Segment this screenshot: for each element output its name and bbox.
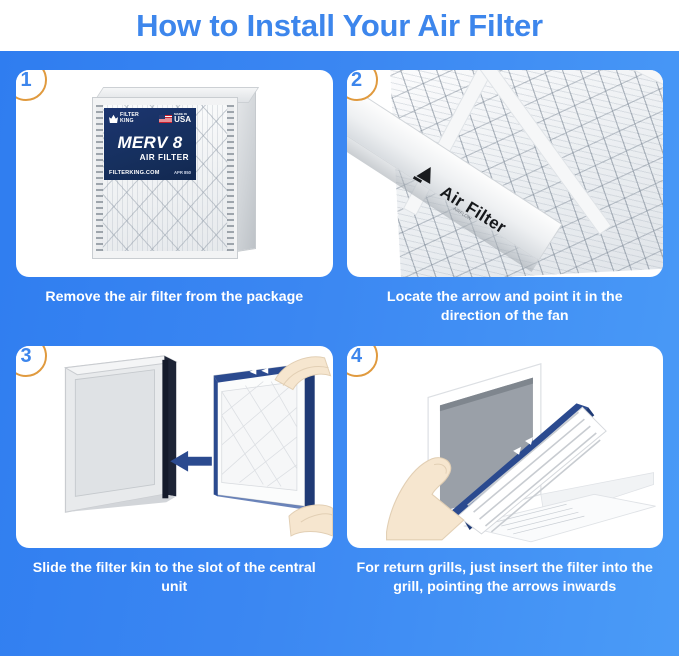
- hand-lower: [289, 505, 333, 536]
- slide-filter-illustration: [16, 346, 333, 544]
- usa-flag-icon: [159, 115, 172, 123]
- apr-rating: APR 850: [174, 170, 191, 175]
- step-panel-3: 3: [16, 346, 333, 650]
- step-card-3: 3: [16, 346, 333, 548]
- brand-website: FILTERKING.COM: [109, 170, 160, 176]
- step-caption-3: Slide the filter kin to the slot of the …: [16, 559, 333, 597]
- step-card-1: 1: [16, 70, 333, 277]
- filter-corner-closeup: Air Filter AIRFLOW: [347, 70, 664, 277]
- filter-right-rail: [227, 105, 234, 251]
- header: How to Install Your Air Filter: [0, 0, 679, 51]
- brand-line-2: KING: [120, 118, 134, 124]
- infographic-page: How to Install Your Air Filter 1: [0, 0, 679, 656]
- step-card-4: 4: [347, 346, 664, 548]
- step-artwork-3: [16, 346, 333, 548]
- merv-rating: MERV 8: [109, 133, 191, 153]
- step-caption-4: For return grills, just insert the filte…: [347, 559, 664, 597]
- insert-direction-arrow: [170, 451, 212, 472]
- made-in-usa-text: MADE IN USA: [174, 113, 191, 124]
- country-label: USA: [174, 116, 191, 124]
- crown-icon: [109, 114, 118, 123]
- steps-grid: 1: [0, 51, 679, 656]
- step-artwork-1: FILTER KING MADE IN USA: [16, 70, 333, 277]
- boxed-air-filter-photo: FILTER KING MADE IN USA: [92, 87, 260, 259]
- made-in-usa-lockup: MADE IN USA: [159, 113, 191, 124]
- step-panel-4: 4: [347, 346, 664, 650]
- step-artwork-2: Air Filter AIRFLOW: [347, 70, 664, 277]
- brand-lockup: FILTER KING: [109, 113, 139, 125]
- product-type: AIR FILTER: [109, 153, 191, 162]
- replacement-filter: [214, 364, 315, 510]
- filter-product-label: FILTER KING MADE IN USA: [104, 108, 196, 180]
- step-panel-1: 1: [16, 70, 333, 342]
- page-title: How to Install Your Air Filter: [136, 10, 543, 41]
- step-artwork-4: [347, 346, 664, 548]
- step-caption-2: Locate the arrow and point it in the dir…: [347, 288, 664, 326]
- central-unit: [65, 356, 176, 512]
- step-card-2: 2 Air Filter AIRFLOW: [347, 70, 664, 277]
- step-panel-2: 2 Air Filter AIRFLOW: [347, 70, 664, 342]
- filter-front-face: FILTER KING MADE IN USA: [92, 97, 238, 259]
- label-brand-row: FILTER KING MADE IN USA: [109, 112, 191, 125]
- return-grill-illustration: [347, 346, 664, 544]
- filter-left-rail: [96, 105, 103, 251]
- step-caption-1: Remove the air filter from the package: [16, 288, 333, 307]
- label-footer-row: FILTERKING.COM APR 850: [109, 170, 191, 176]
- brand-name: FILTER KING: [120, 113, 139, 125]
